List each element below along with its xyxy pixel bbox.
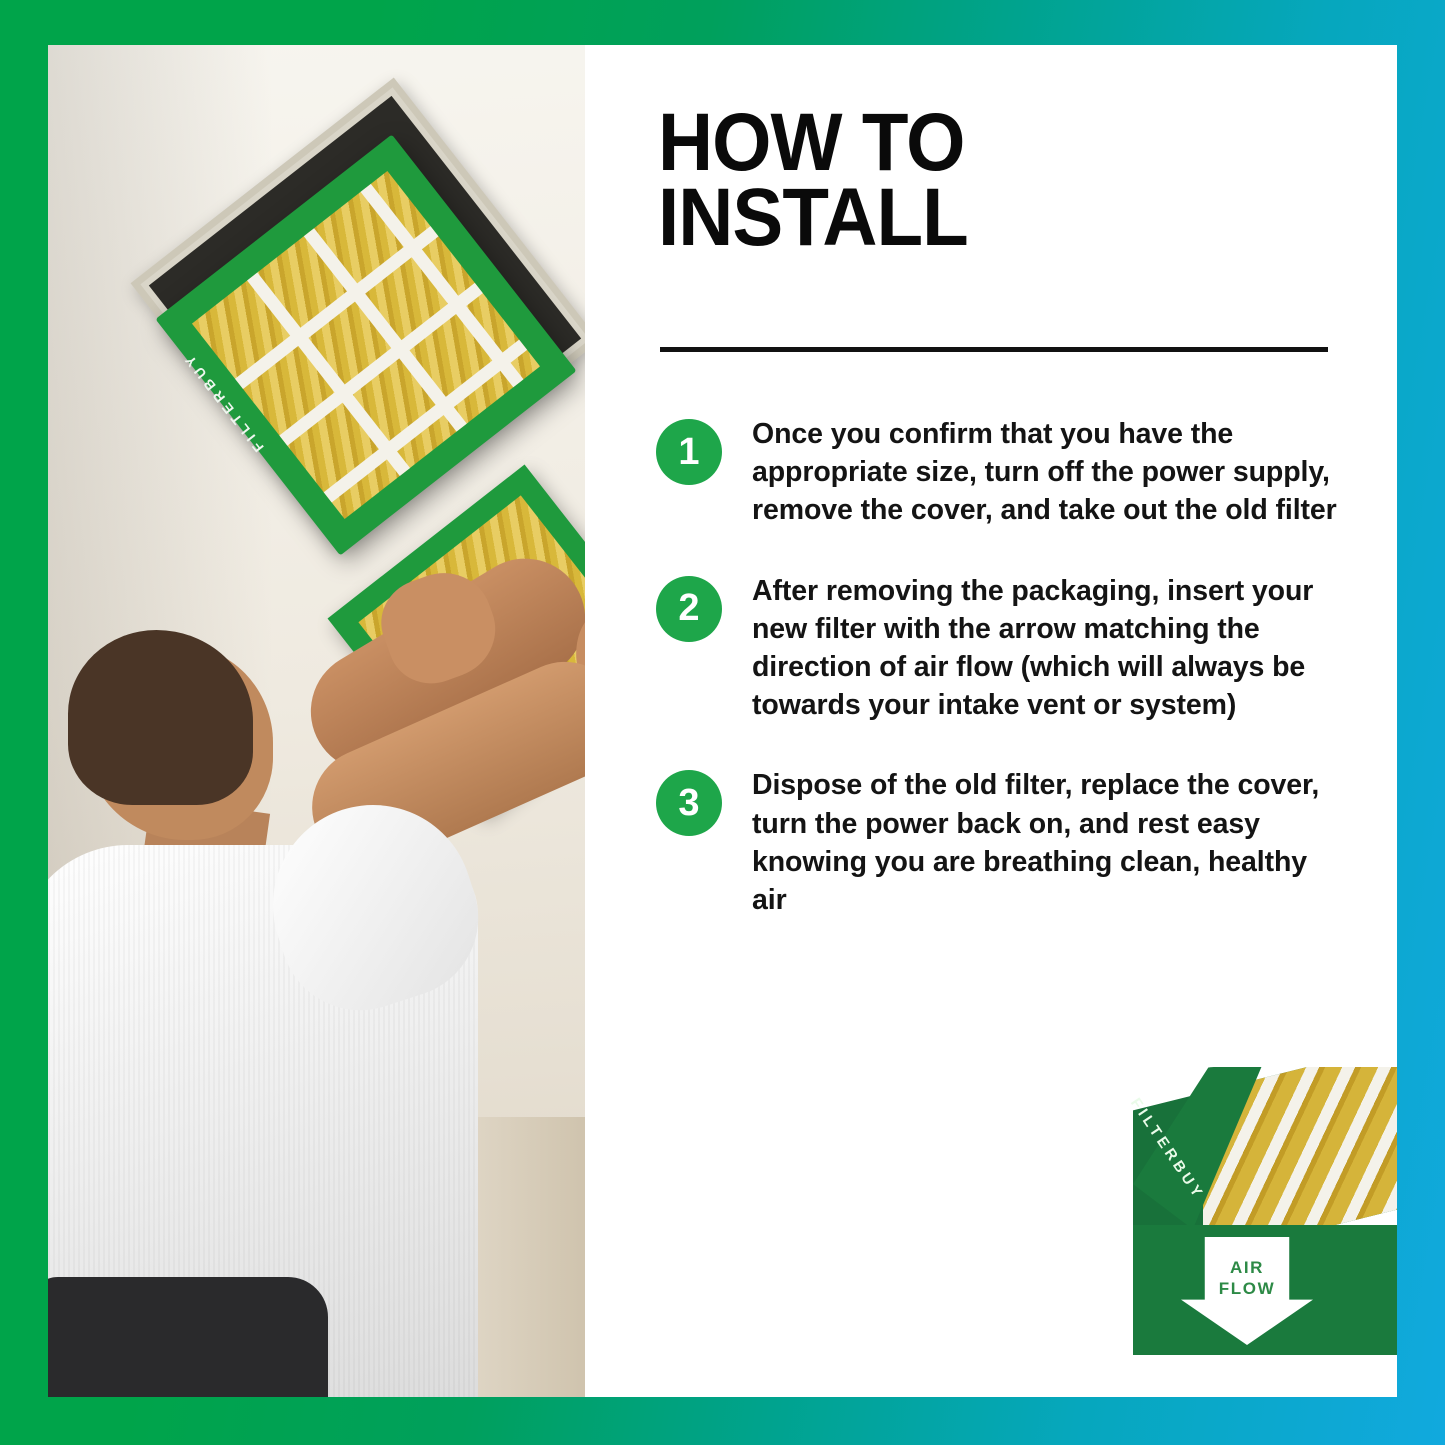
air-flow-label-line-1: AIR xyxy=(1230,1257,1264,1278)
title-divider xyxy=(660,347,1328,352)
page-title-line-2: INSTALL xyxy=(658,180,968,255)
step-text-1: Once you confirm that you have the appro… xyxy=(752,415,1346,530)
person-pants xyxy=(48,1277,328,1397)
product-front-face: AIR FLOW xyxy=(1133,1225,1397,1355)
step-item-2: 2 After removing the packaging, insert y… xyxy=(656,572,1346,725)
page-title-line-1: HOW TO xyxy=(658,105,968,180)
person-hair xyxy=(68,630,253,805)
step-item-3: 3 Dispose of the old filter, replace the… xyxy=(656,766,1346,919)
step-number-badge-3: 3 xyxy=(656,770,722,836)
step-number-badge-2: 2 xyxy=(656,576,722,642)
air-flow-label-line-2: FLOW xyxy=(1219,1278,1275,1299)
inner-white-card: FILTERBUY HOW TO INSTALL xyxy=(48,45,1397,1397)
step-number-badge-1: 1 xyxy=(656,419,722,485)
step-item-1: 1 Once you confirm that you have the app… xyxy=(656,415,1346,530)
page-title: HOW TO INSTALL xyxy=(658,105,968,256)
product-photo: FILTERBUY AIR FLOW xyxy=(1115,1067,1397,1397)
install-photo: FILTERBUY xyxy=(48,45,585,1397)
step-text-2: After removing the packaging, insert you… xyxy=(752,572,1346,725)
air-flow-arrow-icon: AIR FLOW xyxy=(1181,1237,1313,1345)
steps-list: 1 Once you confirm that you have the app… xyxy=(656,415,1346,961)
poster-frame: FILTERBUY HOW TO INSTALL xyxy=(0,0,1445,1445)
step-text-3: Dispose of the old filter, replace the c… xyxy=(752,766,1346,919)
